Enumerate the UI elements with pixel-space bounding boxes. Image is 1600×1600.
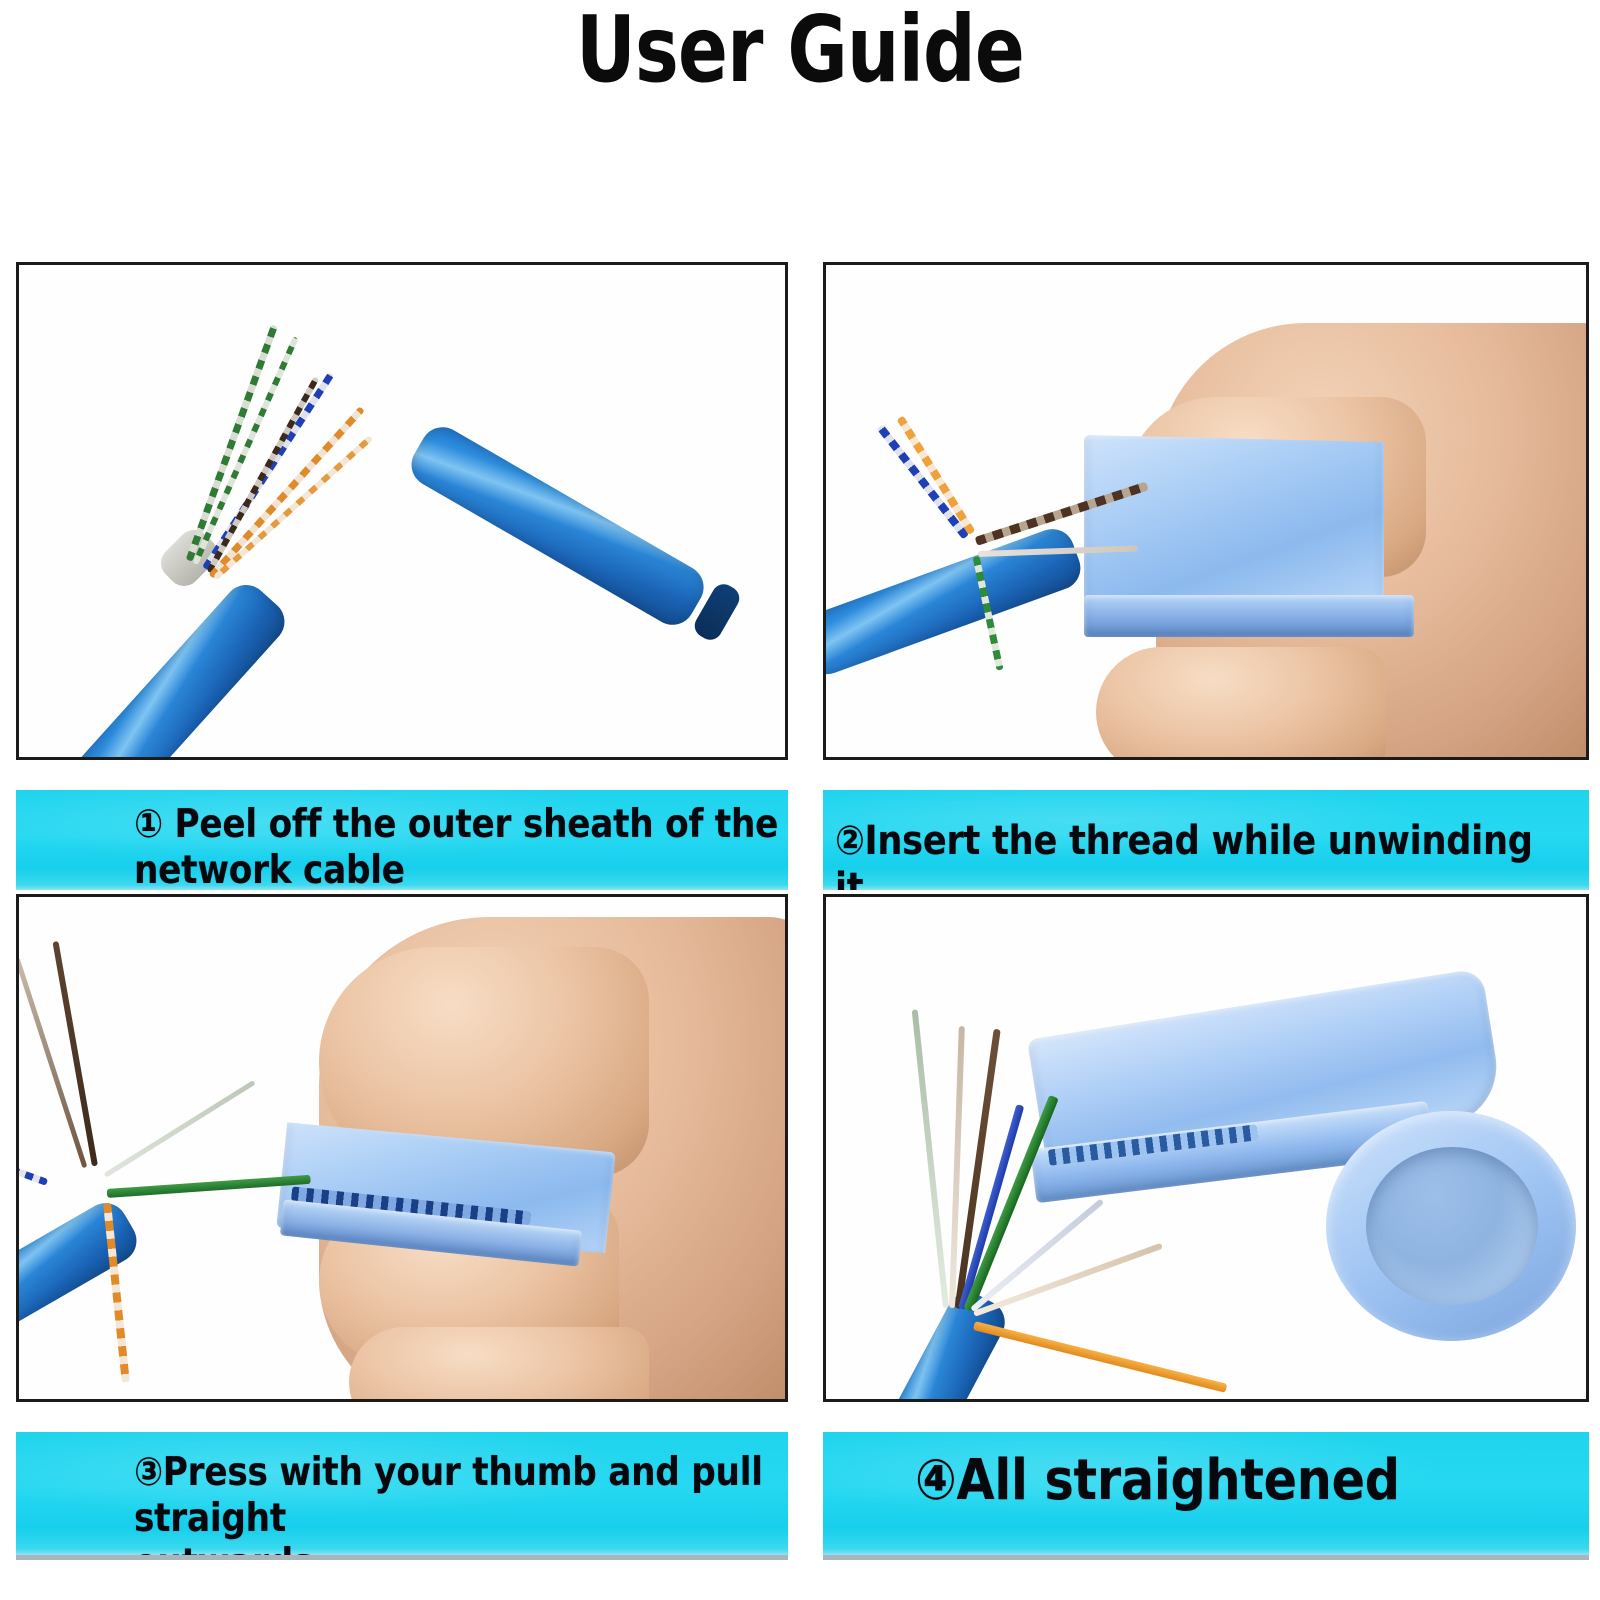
step-3-caption-bar: ③Press with your thumb and pull straight… [16,1432,788,1560]
page-header: User Guide [0,0,1600,230]
cable-sheath-main [823,523,1087,680]
cable-sheath-main [57,576,293,760]
step-1-caption-text: ① Peel off the outer sheath of the netwo… [134,802,788,890]
step-2-photo [823,262,1589,760]
wire-pair-blue [877,424,969,539]
tool-finger-ring-hole [1366,1147,1538,1305]
wire-orange-solid [213,435,373,580]
cable-sheath-main [852,1285,1013,1402]
step-4-caption-bar: ④All straightened [823,1432,1589,1560]
steps-grid: ① Peel off the outer sheath of the netwo… [0,230,1600,1550]
untwisting-tool-lower-jaw [1084,595,1414,637]
step-2: ②Insert the thread while unwinding it [823,262,1589,760]
wire-pair-blue [16,1153,48,1186]
wire-green-white [104,1080,256,1178]
step-1: ① Peel off the outer sheath of the netwo… [16,262,788,760]
step-3: ③Press with your thumb and pull straight… [16,894,788,1402]
lower-finger [349,1327,649,1402]
wire-orange-solid [973,1321,1227,1393]
page-title: User Guide [576,2,1024,99]
step-4-caption-text: ④All straightened [915,1448,1531,1514]
step-3-photo [16,894,788,1402]
wire-pair-orange [897,416,976,536]
step-1-photo [16,262,788,760]
untwisting-tool [1084,435,1384,610]
step-4-photo [823,894,1589,1402]
cable-sheath-cut-piece [404,419,712,633]
wire-green-white [912,1009,949,1308]
step-4: ④All straightened [823,894,1589,1402]
lower-finger [1096,647,1386,760]
step-3-caption-text: ③Press with your thumb and pull straight… [134,1450,788,1560]
step-2-caption-bar: ②Insert the thread while unwinding it [823,790,1589,890]
step-1-caption-bar: ① Peel off the outer sheath of the netwo… [16,790,788,890]
step-2-caption-text: ②Insert the thread while unwinding it [835,818,1539,890]
